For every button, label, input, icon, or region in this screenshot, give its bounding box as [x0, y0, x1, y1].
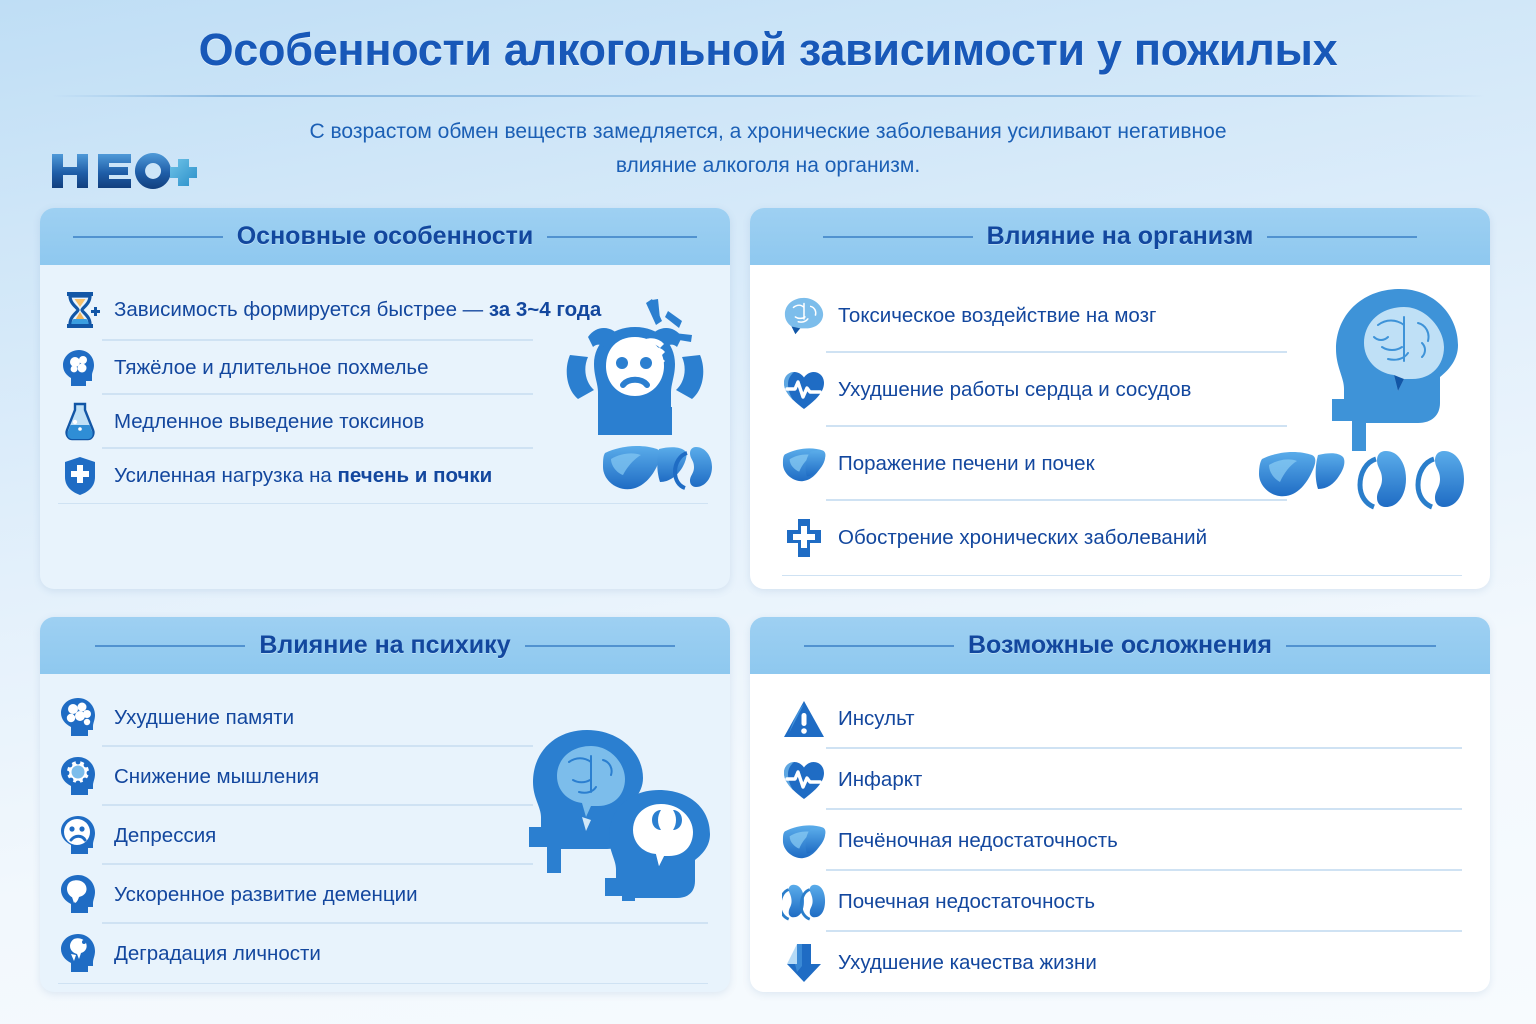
page-subtitle: С возрастом обмен веществ замедляется, а… — [300, 115, 1236, 183]
card-header: Влияние на психику — [40, 617, 730, 674]
card-body: Зависимость формируется быстрее — за 3~4… — [40, 265, 730, 520]
list-item-label: Депрессия — [114, 824, 216, 848]
list-item-label: Поражение печени и почек — [838, 452, 1095, 476]
card-complications: Возможные осложнения Инсульт — [750, 617, 1490, 992]
header-rule-right — [547, 236, 697, 238]
list-item-label: Инфаркт — [838, 768, 922, 792]
list-item-label: Зависимость формируется быстрее — за 3~4… — [114, 298, 601, 322]
kidneys-icon — [782, 880, 826, 924]
list-item: Поражение печени и почек — [782, 427, 1462, 501]
title-divider — [52, 95, 1484, 97]
head-degradation-icon — [58, 932, 102, 976]
list-item: Тяжёлое и длительное похмелье — [58, 341, 708, 395]
list-item-label: Ухудшение памяти — [114, 706, 294, 730]
list-item: Инсульт — [782, 688, 1462, 749]
heart-pulse-icon — [782, 758, 826, 802]
warning-triangle-icon — [782, 697, 826, 741]
list-item-label: Тяжёлое и длительное похмелье — [114, 356, 429, 380]
brain-icon — [782, 294, 826, 338]
card-body: Токсическое воздействие на мозг Ухудшени… — [750, 265, 1490, 589]
list-item: Ускоренное развитие деменции — [58, 865, 708, 924]
header-rule-left — [823, 236, 973, 238]
card-body: Инсульт Инфаркт — [750, 674, 1490, 992]
card-title: Возможные осложнения — [968, 631, 1272, 660]
list-item-label: Инсульт — [838, 707, 915, 731]
list-item-label: Деградация личности — [114, 942, 321, 966]
hourglass-icon — [58, 288, 102, 332]
list-item-label: Ускоренное развитие деменции — [114, 883, 418, 907]
card-header: Основные особенности — [40, 208, 730, 265]
brand-logo — [48, 148, 198, 194]
card-header: Возможные осложнения — [750, 617, 1490, 674]
head-sad-icon — [58, 814, 102, 858]
card-body-effects: Влияние на организм Токсическое воздейст… — [750, 208, 1490, 589]
list-item-label: Ухудшение качества жизни — [838, 951, 1097, 975]
card-title: Влияние на психику — [259, 631, 510, 660]
card-title: Влияние на организм — [987, 222, 1254, 251]
list-item-label: Печёночная недостаточность — [838, 829, 1118, 853]
shield-cross-icon — [58, 454, 102, 498]
list-item-label: Ухудшение работы сердца и сосудов — [838, 378, 1191, 402]
list-item: Деградация личности — [58, 924, 708, 984]
head-dementia-icon — [58, 873, 102, 917]
list-item: Медленное выведение токсинов — [58, 395, 708, 449]
header-rule-right — [1267, 236, 1417, 238]
infographic-page: Особенности алкогольной зависимости у по… — [0, 0, 1536, 1024]
list-item-label: Почечная недостаточность — [838, 890, 1095, 914]
flask-icon — [58, 400, 102, 444]
heart-pulse-icon — [782, 368, 826, 412]
liver-icon — [782, 442, 826, 486]
card-header: Влияние на организм — [750, 208, 1490, 265]
list-item: Почечная недостаточность — [782, 871, 1462, 932]
list-item-label: Обострение хронических заболеваний — [838, 526, 1207, 550]
liver-icon — [782, 819, 826, 863]
list-item: Депрессия — [58, 806, 708, 865]
card-psyche-effects: Влияние на психику Ухудшение памяти — [40, 617, 730, 992]
header-rule-left — [73, 236, 223, 238]
list-item-label: Токсическое воздействие на мозг — [838, 304, 1156, 328]
list-item: Токсическое воздействие на мозг — [782, 279, 1462, 353]
down-arrow-icon — [782, 941, 826, 985]
list-item-label: Усиленная нагрузка на печень и почки — [114, 464, 492, 488]
list-item: Зависимость формируется быстрее — за 3~4… — [58, 279, 708, 341]
card-body: Ухудшение памяти Снижение м — [40, 674, 730, 992]
card-main-features: Основные особенности Зависимость форми — [40, 208, 730, 589]
list-item: Усиленная нагрузка на печень и почки — [58, 449, 708, 504]
head-memory-icon — [58, 696, 102, 740]
list-item: Обострение хронических заболеваний — [782, 501, 1462, 576]
header-rule-right — [1286, 645, 1436, 647]
header-rule-left — [95, 645, 245, 647]
medical-cross-icon — [782, 516, 826, 560]
list-item: Ухудшение памяти — [58, 688, 708, 747]
list-item: Печёночная недостаточность — [782, 810, 1462, 871]
head-hangover-icon — [58, 346, 102, 390]
list-item-label: Снижение мышления — [114, 765, 319, 789]
list-item: Инфаркт — [782, 749, 1462, 810]
list-item-label: Медленное выведение токсинов — [114, 410, 424, 434]
list-item: Ухудшение работы сердца и сосудов — [782, 353, 1462, 427]
card-title: Основные особенности — [237, 222, 534, 251]
header-rule-right — [525, 645, 675, 647]
page-title: Особенности алкогольной зависимости у по… — [0, 24, 1536, 76]
header-rule-left — [804, 645, 954, 647]
list-item: Снижение мышления — [58, 747, 708, 806]
head-thinking-icon — [58, 755, 102, 799]
list-item: Ухудшение качества жизни — [782, 932, 1462, 992]
